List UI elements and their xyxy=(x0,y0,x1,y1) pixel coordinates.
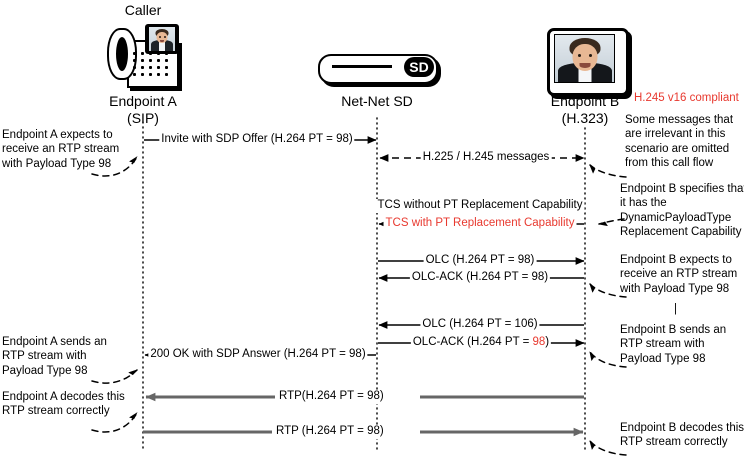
message-label-rtp-b-to-a: RTP(H.264 PT = 98) xyxy=(277,390,386,404)
message-label-invite: Invite with SDP Offer (H.264 PT = 98) xyxy=(159,133,354,147)
message-label-olc-106: OLC (H.264 PT = 106) xyxy=(420,318,539,332)
ip-video-phone-icon xyxy=(105,22,185,84)
message-label-rtp-a-to-b: RTP (H.264 PT = 98) xyxy=(274,425,386,439)
note-endpoint-b-decodes: Endpoint B decodes this RTP stream corre… xyxy=(620,421,744,450)
message-label-olc-98: OLC (H.264 PT = 98) xyxy=(424,254,537,268)
sd-badge: SD xyxy=(404,57,434,77)
note-endpoint-a-decodes: Endpoint A decodes this RTP stream corre… xyxy=(2,390,125,419)
caller-title: Caller xyxy=(125,2,162,19)
message-label-olc-ack-98-red: OLC-ACK (H.264 PT = 98) xyxy=(411,336,551,350)
compliance-note: H.245 v16 compliant xyxy=(634,92,739,106)
phone-video-screen xyxy=(145,24,179,54)
message-label-olc-ack-98: OLC-ACK (H.264 PT = 98) xyxy=(410,271,550,285)
node-label-endpoint-a: Endpoint A xyxy=(109,93,177,110)
note-endpoint-a-sends: Endpoint A sends an RTP stream with Payl… xyxy=(2,335,107,378)
olc-ack-suffix: ) xyxy=(545,336,549,348)
session-director-appliance-icon: SD xyxy=(318,54,438,84)
call-flow-diagram: Caller xyxy=(0,0,744,458)
phone-handset-core xyxy=(116,37,128,71)
endpoint-b-person-photo xyxy=(555,35,614,82)
olc-ack-pt-value: 98 xyxy=(532,336,545,348)
phone-caller-photo xyxy=(149,27,175,51)
note-endpoint-a-expects: Endpoint A expects to receive an RTP str… xyxy=(2,128,119,171)
video-monitor-icon xyxy=(547,28,627,94)
note-endpoint-b-expects: Endpoint B expects to receive an RTP str… xyxy=(620,253,737,296)
message-label-tcs-with-pt: TCS with PT Replacement Capability xyxy=(384,217,577,231)
node-sublabel-endpoint-a: (SIP) xyxy=(127,110,159,127)
note-endpoint-b-specifies: Endpoint B specifies that it has the Dyn… xyxy=(620,182,744,239)
message-label-h225-h245: H.225 / H.245 messages xyxy=(421,151,552,165)
node-label-endpoint-b: Endpoint B xyxy=(551,93,620,110)
message-label-tcs-without-pt: TCS without PT Replacement Capability xyxy=(376,199,585,213)
note-omitted-messages: Some messages that are irrelevant in thi… xyxy=(625,113,733,170)
node-label-net-net-sd: Net-Net SD xyxy=(341,93,413,110)
monitor-screen xyxy=(554,34,615,83)
appliance-slot xyxy=(332,65,392,68)
phone-keypad xyxy=(133,52,171,79)
olc-ack-prefix: OLC-ACK (H.264 PT = xyxy=(413,336,533,348)
note-endpoint-b-sends: Endpoint B sends an RTP stream with Payl… xyxy=(620,323,726,366)
message-label-200-ok: 200 OK with SDP Answer (H.264 PT = 98) xyxy=(148,348,367,362)
node-sublabel-endpoint-b: (H.323) xyxy=(562,110,609,127)
stray-tick-mark: | xyxy=(674,303,677,317)
